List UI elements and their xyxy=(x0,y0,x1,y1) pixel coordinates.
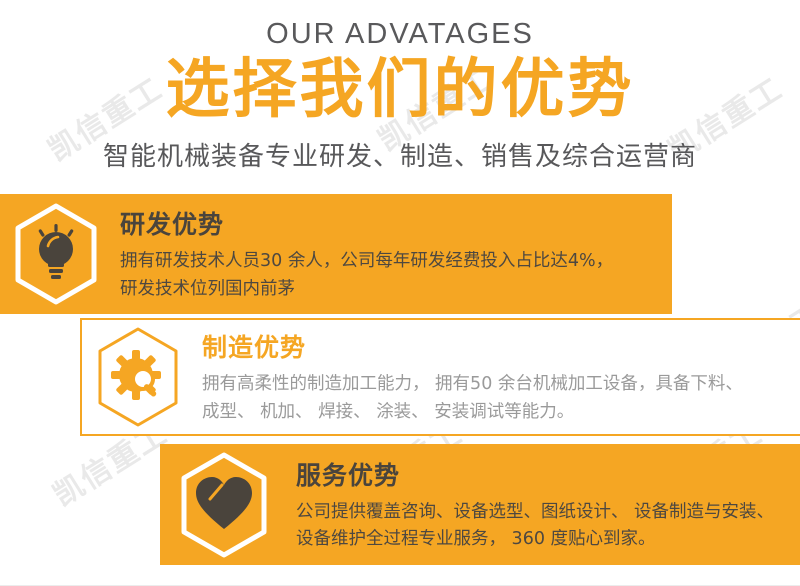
panel-body-line: 研发技术位列国内前茅 xyxy=(120,276,613,303)
panel-text: 制造优势 拥有高柔性的制造加工能力， 拥有50 余台机械加工设备，具备下料、 成… xyxy=(194,328,743,425)
panel-text: 研发优势 拥有研发技术人员30 余人，公司每年研发经费投入占比达4%， 研发技术… xyxy=(112,205,613,302)
panel-body-line: 拥有研发技术人员30 余人，公司每年研发经费投入占比达4%， xyxy=(120,248,613,275)
panel-title: 制造优势 xyxy=(202,328,743,364)
gear-wrench-icon xyxy=(82,325,194,429)
heart-icon xyxy=(160,451,288,559)
panel-body: 公司提供覆盖咨询、设备选型、图纸设计、 设备制造与安装、 设备维护全过程专业服务… xyxy=(296,499,774,553)
panel-body-line: 成型、 机加、 焊接、 涂装、 安装调试等能力。 xyxy=(202,399,743,426)
panel-body-line: 公司提供覆盖咨询、设备选型、图纸设计、 设备制造与安装、 xyxy=(296,499,774,526)
page-subtitle: 智能机械装备专业研发、制造、销售及综合运营商 xyxy=(0,136,800,173)
lightbulb-icon xyxy=(0,202,112,306)
panel-body: 拥有研发技术人员30 余人，公司每年研发经费投入占比达4%， 研发技术位列国内前… xyxy=(120,248,613,302)
panel-body-line: 拥有高柔性的制造加工能力， 拥有50 余台机械加工设备，具备下料、 xyxy=(202,371,743,398)
advantage-panel-service: 服务优势 公司提供覆盖咨询、设备选型、图纸设计、 设备制造与安装、 设备维护全过… xyxy=(160,444,800,565)
panel-body-line: 设备维护全过程专业服务， 360 度贴心到家。 xyxy=(296,526,774,553)
panel-body: 拥有高柔性的制造加工能力， 拥有50 余台机械加工设备，具备下料、 成型、 机加… xyxy=(202,371,743,425)
panel-text: 服务优势 公司提供覆盖咨询、设备选型、图纸设计、 设备制造与安装、 设备维护全过… xyxy=(288,456,774,553)
advantages-banner: 凯信重工 凯信重工 凯信重工 凯信重工 凯信重工 凯信重工 凯信重工 凯信重工 … xyxy=(0,0,800,586)
page-title: 选择我们的优势 xyxy=(0,57,800,124)
banner-header: OUR ADVATAGES 选择我们的优势 智能机械装备专业研发、制造、销售及综… xyxy=(0,0,800,173)
eyebrow-title: OUR ADVATAGES xyxy=(0,18,800,51)
panel-title: 研发优势 xyxy=(120,205,613,241)
panel-title: 服务优势 xyxy=(296,456,774,492)
advantage-panel-rd: 研发优势 拥有研发技术人员30 余人，公司每年研发经费投入占比达4%， 研发技术… xyxy=(0,194,672,314)
advantage-panel-manufacturing: 制造优势 拥有高柔性的制造加工能力， 拥有50 余台机械加工设备，具备下料、 成… xyxy=(80,318,800,436)
